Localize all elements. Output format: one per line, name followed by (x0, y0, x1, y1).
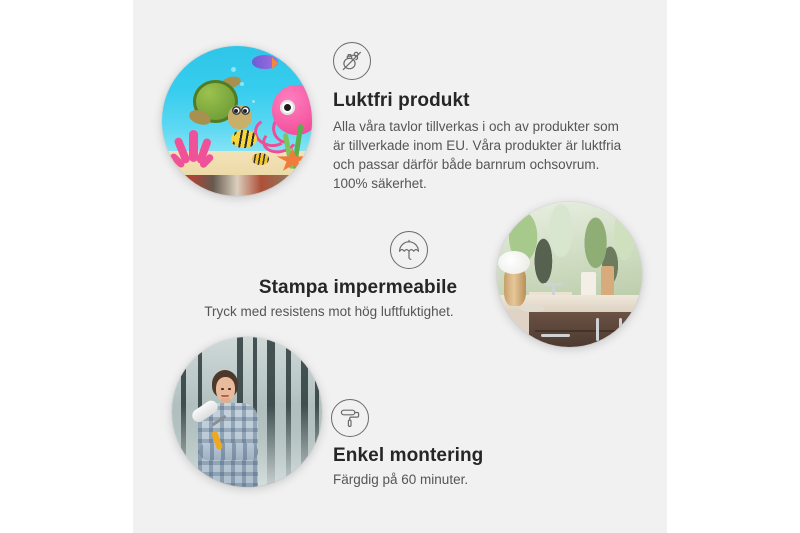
page-root: Luktfri produkt Alla våra tavlor tillver… (0, 0, 800, 533)
feature-title: Luktfri produkt (333, 90, 633, 112)
ocean-scene (162, 46, 312, 196)
feature-title: Stampa impermeabile (198, 277, 460, 299)
door-handle (619, 318, 622, 341)
photo-bathroom (497, 202, 642, 347)
folded-arms (199, 443, 257, 461)
paint-roller-icon (331, 399, 369, 437)
sea-turtle (186, 76, 258, 136)
turtle-eye (241, 106, 250, 115)
turtle-eye (232, 106, 241, 115)
fish-purple (252, 55, 278, 69)
vase (504, 269, 526, 307)
counter-side (497, 312, 532, 347)
door-handle (596, 318, 599, 341)
no-odour-spray-bottle-icon (333, 42, 371, 80)
feature-description: Alla våra tavlor tillverkas i och av pro… (333, 118, 633, 194)
photo-forest (172, 337, 322, 487)
fish-yellow-striped (231, 130, 257, 148)
forest-scene (172, 337, 322, 487)
fish-small-yellow (252, 153, 269, 165)
feature-odourless: Luktfri produkt Alla våra tavlor tillver… (333, 42, 633, 194)
drawer-handle (541, 334, 570, 337)
photo-ocean (162, 46, 312, 196)
bathroom-scene (497, 202, 642, 347)
feature-description: Tryck med resistens mot hög luftfuktighe… (198, 303, 460, 322)
feature-title: Enkel montering (331, 445, 561, 467)
ocean-foreground-strip (162, 175, 312, 196)
coral (171, 130, 216, 181)
woman-with-roller (193, 370, 274, 487)
umbrella-icon (390, 231, 428, 269)
icon-wrap (198, 231, 460, 269)
feature-easy-mounting: Enkel montering Färgdig på 60 minuter. (331, 399, 561, 490)
bubble-icon (231, 67, 236, 72)
feature-description: Färgdig på 60 minuter. (331, 471, 561, 490)
feature-waterproof: Stampa impermeabile Tryck med resistens … (198, 231, 460, 322)
soap-dish (520, 304, 545, 313)
